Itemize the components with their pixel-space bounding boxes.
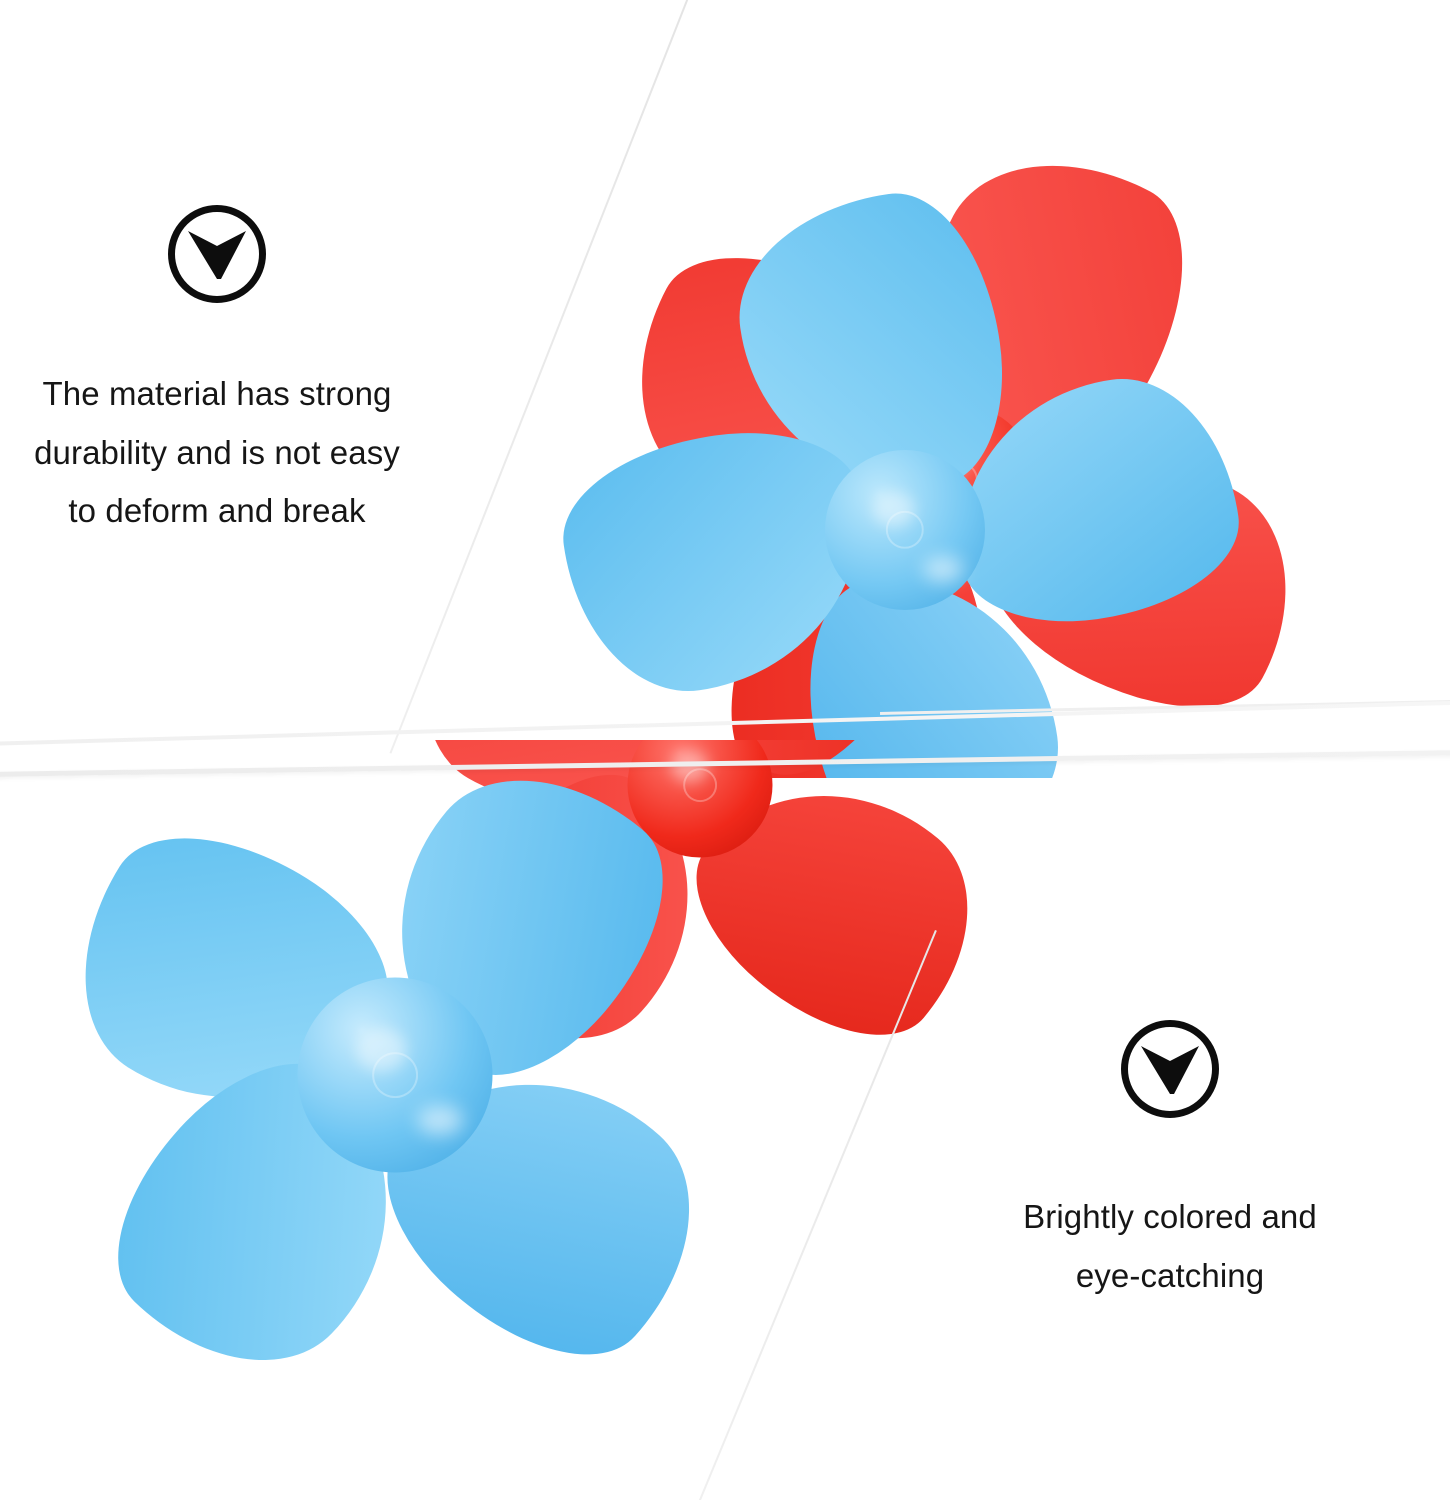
feature-callout-colorful-text: Brightly colored and eye-catching <box>955 1188 1385 1305</box>
feature-callout-colorful: Brightly colored and eye-catching <box>955 1020 1385 1305</box>
fan-hub <box>825 450 985 610</box>
chevron-down-circle-icon <box>168 205 266 303</box>
product-feature-infographic: The material has strong durability and i… <box>0 0 1450 1500</box>
feature-callout-durability-text: The material has strong durability and i… <box>0 365 442 541</box>
feature-callout-durability: The material has strong durability and i… <box>0 205 442 541</box>
fan-hub <box>298 978 493 1173</box>
chevron-down-circle-icon <box>1121 1020 1219 1118</box>
